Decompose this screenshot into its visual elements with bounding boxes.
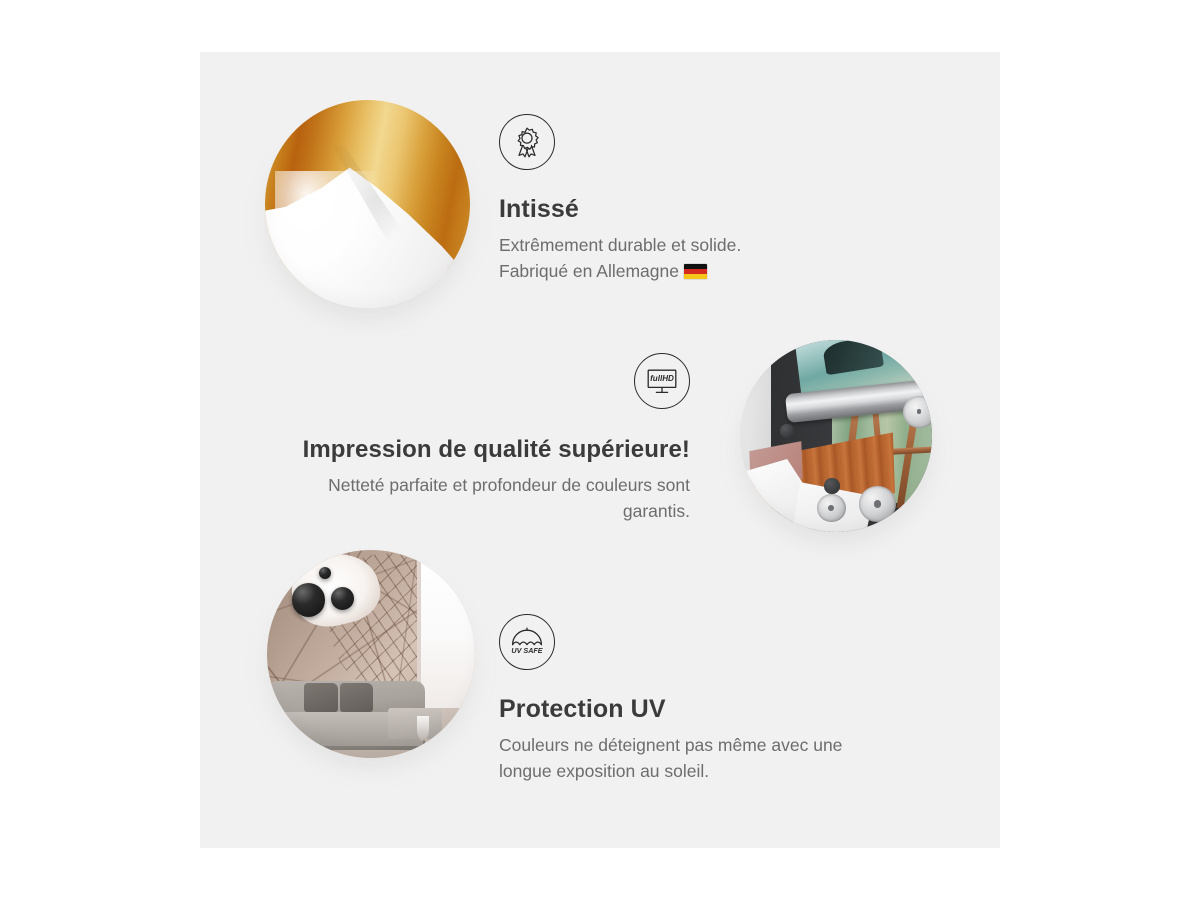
- feature-description: Netteté parfaite et profondeur de couleu…: [286, 473, 690, 524]
- uv-safe-umbrella-icon: UV SAFE: [499, 614, 555, 670]
- room-vignette: [267, 550, 475, 758]
- feature-title: Impression de qualité supérieure!: [286, 436, 690, 464]
- feature-desc-line-1: Netteté parfaite et profondeur de couleu…: [328, 475, 690, 495]
- wallpaper-roll-image: [265, 100, 470, 308]
- feature-impression: fullHD Impression de qualité supérieure!…: [286, 353, 690, 524]
- svg-text:UV SAFE: UV SAFE: [511, 646, 542, 655]
- fullhd-monitor-icon: fullHD: [634, 353, 690, 409]
- printing-press-image: [740, 340, 932, 532]
- product-features-page: Intissé Extrêmement durable et solide. F…: [0, 0, 1200, 900]
- feature-description: Couleurs ne déteignent pas même avec une…: [499, 733, 842, 784]
- feature-description: Extrêmement durable et solide. Fabriqué …: [499, 233, 741, 284]
- feature-desc-line-2: garantis.: [623, 501, 690, 521]
- feature-desc-line-1: Extrêmement durable et solide.: [499, 235, 741, 255]
- printer-vignette: [740, 340, 932, 532]
- svg-text:fullHD: fullHD: [650, 374, 674, 383]
- award-rosette-icon: [499, 114, 555, 170]
- feature-title: Protection UV: [499, 695, 842, 724]
- feature-intisse: Intissé Extrêmement durable et solide. F…: [499, 114, 741, 284]
- icon-wrap: UV SAFE: [499, 614, 842, 670]
- feature-title: Intissé: [499, 195, 741, 224]
- icon-wrap: fullHD: [286, 353, 690, 409]
- feature-desc-line-1: Couleurs ne déteignent pas même avec une: [499, 735, 842, 755]
- feature-desc-line-2: Fabriqué en Allemagne: [499, 261, 679, 281]
- feature-desc-line-2: longue exposition au soleil.: [499, 761, 709, 781]
- feature-protection-uv: UV SAFE Protection UV Couleurs ne déteig…: [499, 614, 842, 784]
- icon-wrap: [499, 114, 741, 170]
- german-flag-icon: [684, 264, 707, 279]
- living-room-image: [267, 550, 475, 758]
- wallpaper-vignette: [265, 100, 470, 308]
